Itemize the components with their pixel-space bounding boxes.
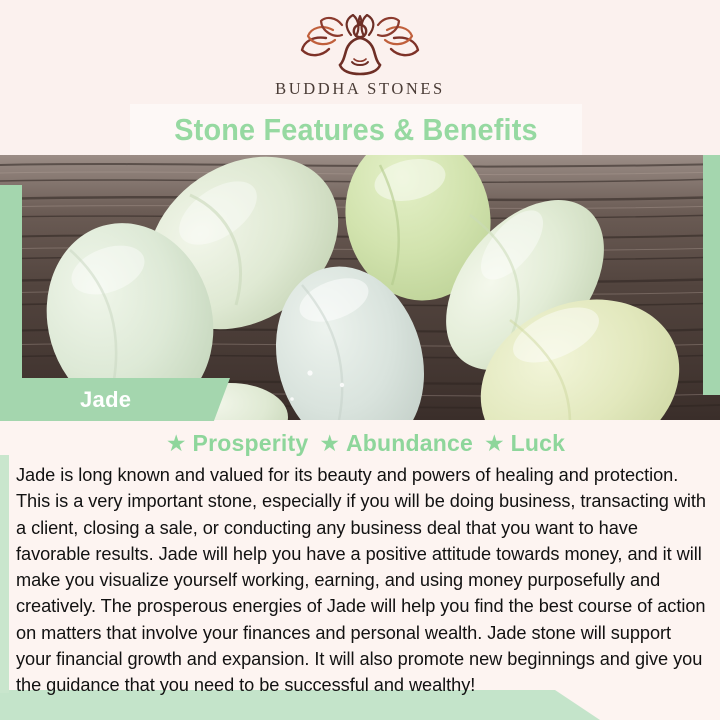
stone-name-label: Jade: [80, 378, 131, 421]
brand-name: BUDDHA STONES: [0, 79, 720, 99]
stone-benefits-infographic: BUDDHA STONES Stone Features & Benefits: [0, 0, 720, 720]
keyword-prosperity: Prosperity: [193, 430, 309, 457]
star-icon: ★: [166, 430, 187, 457]
keyword-luck: Luck: [511, 430, 565, 457]
brand-logo: BUDDHA STONES: [0, 14, 720, 99]
title-banner: Stone Features & Benefits: [130, 104, 582, 156]
page-title: Stone Features & Benefits: [146, 104, 566, 156]
description-text: Jade is long known and valued for its be…: [16, 462, 706, 699]
accent-strip-body-left: [0, 455, 9, 693]
star-icon: ★: [319, 430, 340, 457]
header: BUDDHA STONES: [0, 0, 720, 110]
lotus-meditation-icon: [296, 14, 424, 76]
keyword-abundance: Abundance: [346, 430, 473, 457]
keyword-list: ★Prosperity★Abundance★Luck: [0, 430, 720, 457]
accent-strip-right: [703, 155, 720, 395]
stone-name-tag: Jade: [0, 378, 230, 421]
star-icon: ★: [484, 430, 505, 457]
